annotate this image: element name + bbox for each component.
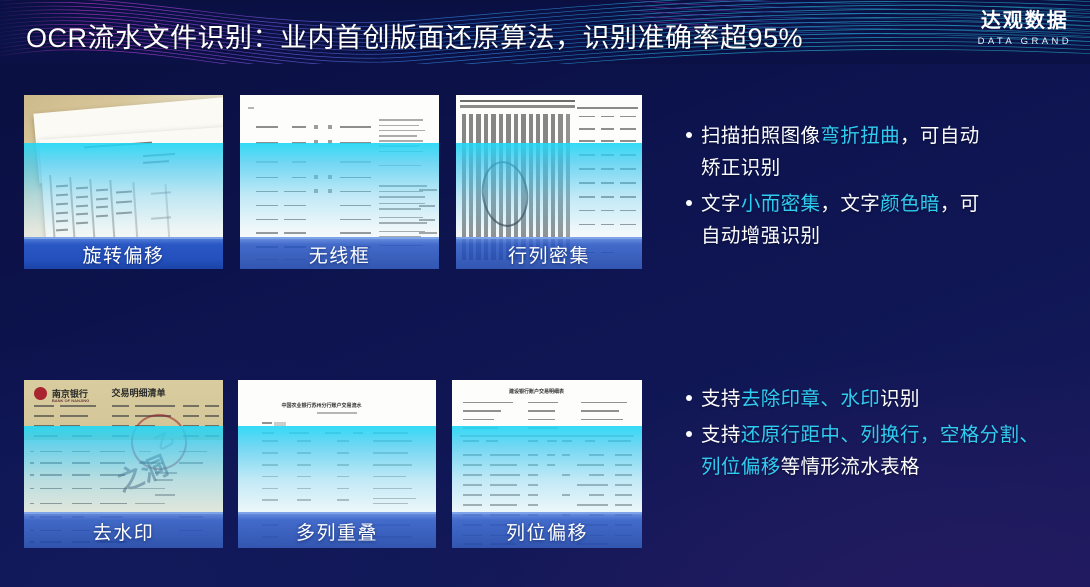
bullet-item: 扫描拍照图像弯折扭曲，可自动矫正识别 <box>686 120 1066 184</box>
card-caption: 去水印 <box>24 512 223 548</box>
page-title: OCR流水文件识别：业内首创版面还原算法，识别准确率超95% <box>26 16 803 55</box>
feature-bullets-group-1: 扫描拍照图像弯折扭曲，可自动矫正识别 文字小而密集，文字颜色暗，可自动增强识别 <box>686 120 1066 256</box>
logo-english-text: DATA GRAND <box>978 36 1072 47</box>
bullet-segment: 文字 <box>701 193 741 215</box>
sample-card-remove-watermark[interactable]: 南京银行 BANK OF NANJING 交易明细清单 <box>24 380 223 548</box>
bullet-dot-icon <box>686 431 692 437</box>
bullet-continuation: 矫正识别 <box>701 157 781 179</box>
bullet-item: 支持去除印章、水印识别 <box>686 383 1076 415</box>
card-caption-text: 列位偏移 <box>506 518 588 545</box>
bullet-segment: ，可自动 <box>900 125 980 147</box>
brand-logo: 达观数据 DATA GRAND <box>978 10 1072 47</box>
feature-bullets-group-2: 支持去除印章、水印识别 支持还原行距中、列换行，空格分割、列位偏移等情形流水表格 <box>686 383 1076 487</box>
card-caption: 行列密集 <box>456 237 642 269</box>
card-caption: 列位偏移 <box>452 512 642 548</box>
bullet-segment-highlight: 弯折扭曲 <box>820 125 900 147</box>
card-caption-text: 行列密集 <box>508 241 590 268</box>
bullet-text: 文字小而密集，文字颜色暗，可自动增强识别 <box>701 188 980 252</box>
bullet-segment-highlight: 小而密集 <box>741 193 821 215</box>
bullet-continuation: 自动增强识别 <box>701 225 820 247</box>
bullet-dot-icon <box>686 132 692 138</box>
bullet-continuation: 等情形流水表格 <box>781 456 920 478</box>
bullet-segment-highlight: 还原行距中、列换行，空格分割、 <box>741 424 1040 446</box>
bank-name-en: BANK OF NANJING <box>52 398 89 403</box>
bullet-segment: 识别 <box>880 388 920 410</box>
sample-card-dense-rows[interactable]: 行列密集 <box>456 95 642 269</box>
bullet-item: 支持还原行距中、列换行，空格分割、列位偏移等情形流水表格 <box>686 419 1076 483</box>
sample-card-borderless[interactable]: 无线框 <box>240 95 439 269</box>
sample-card-column-shift[interactable]: 建设银行账户交易明细表 <box>452 380 642 548</box>
bullet-text: 扫描拍照图像弯折扭曲，可自动矫正识别 <box>701 120 980 184</box>
card-caption: 多列重叠 <box>238 512 436 548</box>
sample-card-multi-column-overlap[interactable]: 中国农业银行苏州分行账户交易流水 <box>238 380 436 548</box>
bullet-item: 文字小而密集，文字颜色暗，可自动增强识别 <box>686 188 1066 252</box>
bullet-text: 支持还原行距中、列换行，空格分割、列位偏移等情形流水表格 <box>701 419 1039 483</box>
bullet-continuation-highlight: 列位偏移 <box>701 456 781 478</box>
bullet-text: 支持去除印章、水印识别 <box>701 383 920 415</box>
card-caption-text: 去水印 <box>93 518 155 545</box>
slide-header: OCR流水文件识别：业内首创版面还原算法，识别准确率超95% 达观数据 DATA… <box>0 0 1090 64</box>
card-caption-text: 旋转偏移 <box>82 241 164 268</box>
right-doc-title: 建设银行账户交易明细表 <box>509 388 564 395</box>
slide-root: OCR流水文件识别：业内首创版面还原算法，识别准确率超95% 达观数据 DATA… <box>0 0 1090 587</box>
card-caption: 无线框 <box>240 237 439 269</box>
mid-doc-title: 中国农业银行苏州分行账户交易流水 <box>282 402 362 409</box>
card-caption-text: 多列重叠 <box>296 518 378 545</box>
card-caption: 旋转偏移 <box>24 237 223 269</box>
bullet-segment-highlight: 颜色暗 <box>880 193 940 215</box>
bullet-segment-highlight: 去除印章、水印 <box>741 388 880 410</box>
bullet-segment: 扫描拍照图像 <box>701 125 820 147</box>
bullet-segment: ，可 <box>940 193 980 215</box>
bullet-dot-icon <box>686 200 692 206</box>
bullet-segment: 支持 <box>701 424 741 446</box>
bullet-segment: ，文字 <box>820 193 880 215</box>
bullet-dot-icon <box>686 395 692 401</box>
card-caption-text: 无线框 <box>309 241 371 268</box>
statement-title: 交易明细清单 <box>112 386 166 399</box>
sample-card-rotated-offset[interactable]: 旋转偏移 <box>24 95 223 269</box>
bullet-segment: 支持 <box>701 388 741 410</box>
logo-chinese-text: 达观数据 <box>978 10 1072 33</box>
